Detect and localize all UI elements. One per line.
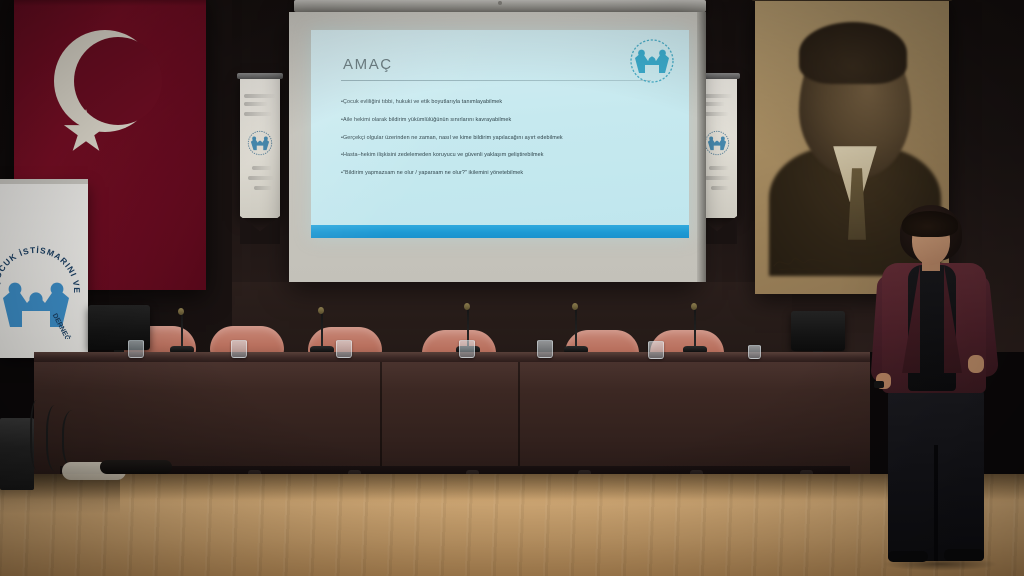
signature-icon: [771, 251, 839, 273]
conference-room-photo: AMAÇ •Çocuk evliliğini tıbbi, hukuki ve …: [0, 0, 1024, 576]
portrait-hair: [799, 22, 907, 84]
presenter-hand-right: [968, 355, 984, 373]
microphone-head: [318, 307, 324, 314]
microphone-head: [178, 308, 184, 315]
cocuk-istismarini-onleme-dernegi-logo-icon: [629, 38, 675, 84]
pennant-bar: [237, 73, 283, 79]
rollup-banner: ÇOCUK İSTİSMARINI VE İHMALİNİ ÖNLEME DER…: [0, 183, 88, 358]
presentation-clicker: [874, 381, 884, 388]
presenter-hair-front: [902, 211, 958, 237]
slide-bullet-list: •Çocuk evliliğini tıbbi, hukuki ve etik …: [341, 100, 671, 189]
association-pennant-logo-icon: [704, 130, 730, 156]
rollup-top-rail: [0, 179, 88, 184]
head-table-top: [34, 352, 870, 362]
presentation-slide: AMAÇ •Çocuk evliliğini tıbbi, hukuki ve …: [311, 30, 689, 238]
cocuk-istismarini-onleme-dernegi-logo-icon: ÇOCUK İSTİSMARINI VE İHMALİNİ ÖNLEME DER…: [0, 243, 84, 339]
presenter-shoe-left: [888, 551, 928, 562]
water-glass: [128, 340, 144, 358]
projector-screen-case: [294, 0, 706, 12]
list-item: •Çocuk evliliğini tıbbi, hukuki ve etik …: [341, 100, 671, 105]
slide-title: AMAÇ: [343, 56, 393, 73]
water-glass: [231, 340, 247, 358]
crescent-cutout: [74, 37, 162, 125]
banner-rod: [751, 0, 953, 1]
projection-screen-edge: [697, 12, 706, 282]
power-strip: [100, 460, 172, 474]
pennant-left: [240, 78, 280, 218]
microphone-head: [464, 303, 470, 310]
presenter: [872, 205, 1008, 565]
list-item: •Gerçekçi olgular üzerinden ne zaman, na…: [341, 136, 671, 141]
slide-accent-band: [311, 225, 689, 238]
microphone-head: [572, 303, 578, 310]
water-glass: [336, 340, 352, 358]
water-glass: [648, 341, 664, 359]
water-glass: [537, 340, 553, 358]
microphone-head: [691, 303, 697, 310]
presenter-shoe-right: [944, 549, 984, 561]
list-item: •Aile hekimi olarak bildirim yükümlülüğü…: [341, 118, 671, 123]
water-glass: [748, 345, 761, 359]
trouser-seam: [934, 445, 938, 561]
cable-bundle: [0, 400, 120, 495]
association-pennant-logo-icon: [247, 130, 273, 156]
list-item: •"Bildirim yapmazsam ne olur / yaparsam …: [341, 171, 671, 176]
table-seam: [518, 362, 520, 474]
head-table-front: [34, 362, 870, 474]
slide-title-underline: [341, 80, 651, 81]
list-item: •Hasta–hekim ilişkisini zedelemeden koru…: [341, 153, 671, 158]
monitor-right: [791, 311, 845, 351]
floor-shadow: [0, 474, 1024, 500]
table-seam: [380, 362, 382, 474]
water-glass: [459, 340, 475, 358]
